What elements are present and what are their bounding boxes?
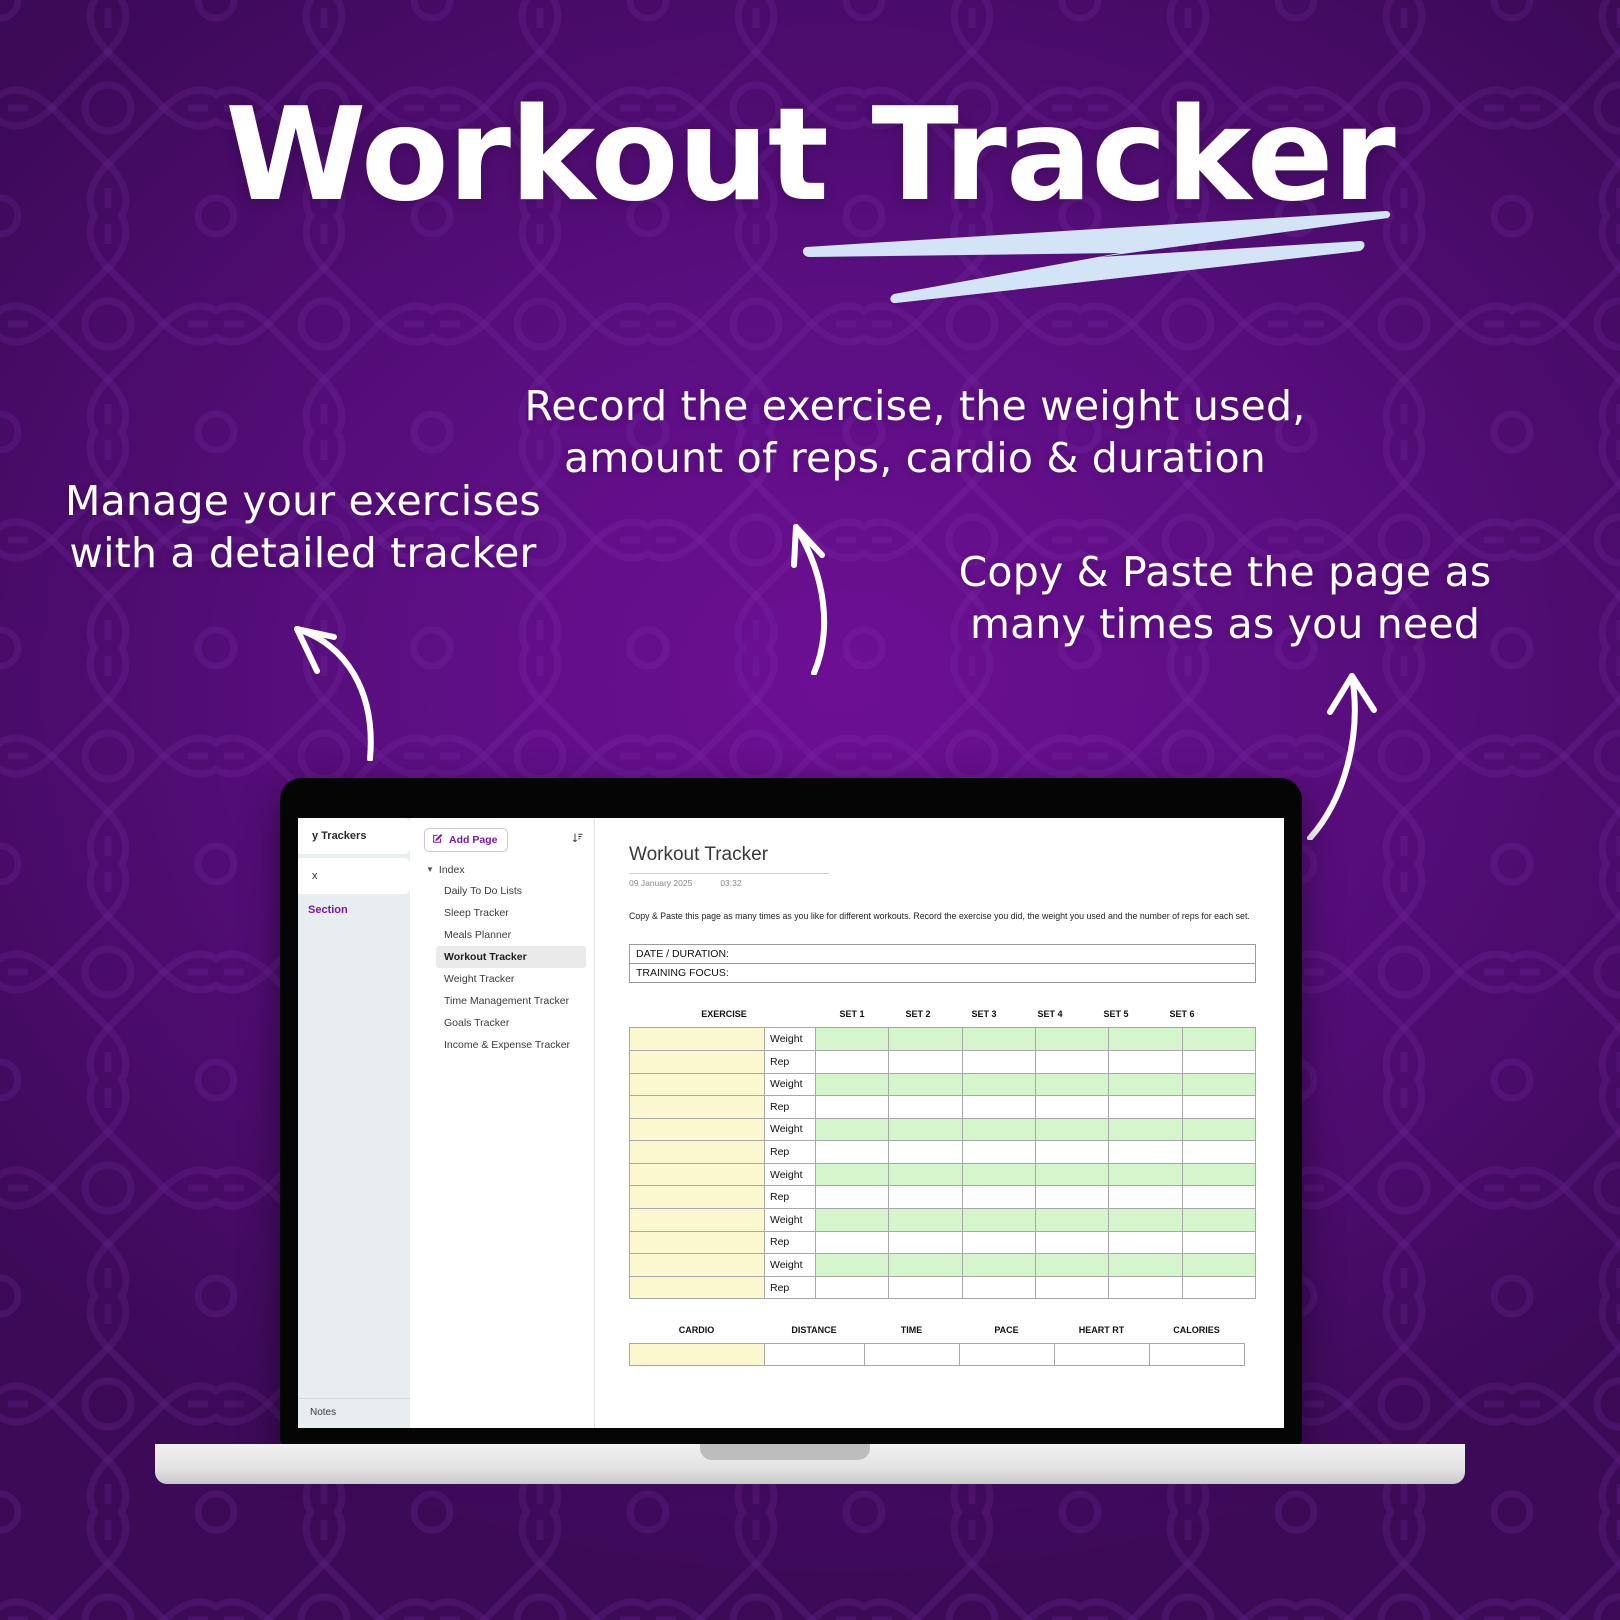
cell-set-1[interactable]: [816, 1118, 889, 1141]
cell-set-2[interactable]: [889, 1163, 962, 1186]
poster-headline: Workout Tracker: [0, 92, 1620, 220]
cell-set-2[interactable]: [889, 1141, 962, 1164]
cell-row-label: Rep: [765, 1186, 816, 1209]
laptop-mockup: y Trackers x Section Notes: [155, 778, 1465, 1518]
cell-exercise[interactable]: [630, 1050, 765, 1073]
cell-set-4[interactable]: [1035, 1276, 1108, 1299]
cell-set-6[interactable]: [1182, 1231, 1255, 1254]
table-row[interactable]: Rep: [630, 1050, 1256, 1073]
cell-set-1[interactable]: [816, 1141, 889, 1164]
table-row[interactable]: Weight: [630, 1073, 1256, 1096]
col-header-set-1: SET 1: [819, 1009, 885, 1019]
page-description: Copy & Paste this page as many times as …: [629, 910, 1256, 922]
table-row[interactable]: Weight: [630, 1118, 1256, 1141]
cell-set-1[interactable]: [816, 1163, 889, 1186]
cell-set-1[interactable]: [816, 1209, 889, 1232]
cell-set-6[interactable]: [1182, 1163, 1255, 1186]
cell-set-4[interactable]: [1035, 1118, 1108, 1141]
page-time: 03:32: [720, 878, 741, 888]
add-page-button[interactable]: Add Page: [424, 828, 508, 852]
section-sidebar: y Trackers x Section Notes: [298, 818, 410, 1428]
table-row[interactable]: Weight: [630, 1028, 1256, 1051]
col-header-set-2: SET 2: [885, 1009, 951, 1019]
cell-set-4[interactable]: [1035, 1050, 1108, 1073]
cell-set-3[interactable]: [962, 1028, 1035, 1051]
laptop-screen: y Trackers x Section Notes: [298, 818, 1284, 1428]
cell-set-6[interactable]: [1182, 1073, 1255, 1096]
page-title-rule: [629, 873, 829, 874]
field-training-focus[interactable]: TRAINING FOCUS:: [630, 963, 1255, 982]
cell-row-label: Weight: [765, 1073, 816, 1096]
cell-exercise[interactable]: [630, 1118, 765, 1141]
cell-set-4[interactable]: [1035, 1209, 1108, 1232]
cell-set-2[interactable]: [889, 1254, 962, 1277]
cell-set-6[interactable]: [1182, 1186, 1255, 1209]
cell-exercise[interactable]: [630, 1209, 765, 1232]
set-table[interactable]: WeightRepWeightRepWeightRepWeightRepWeig…: [629, 1027, 1256, 1299]
callout-right: Copy & Paste the page as many times as y…: [940, 546, 1510, 651]
cardio-col-header-time: TIME: [864, 1325, 959, 1335]
cell-set-6[interactable]: [1182, 1276, 1255, 1299]
table-row[interactable]: Weight: [630, 1254, 1256, 1277]
cardio-cell-distance[interactable]: [765, 1344, 865, 1366]
cell-set-3[interactable]: [962, 1141, 1035, 1164]
page-group-label: Index: [439, 864, 465, 876]
cell-set-3[interactable]: [962, 1096, 1035, 1119]
cell-set-6[interactable]: [1182, 1028, 1255, 1051]
cell-set-1[interactable]: [816, 1254, 889, 1277]
section-spacer: [298, 916, 410, 1398]
cell-set-3[interactable]: [962, 1186, 1035, 1209]
add-page-label: Add Page: [449, 834, 497, 846]
table-row[interactable]: Rep: [630, 1141, 1256, 1164]
page-timestamp: 09 January 2025 03:32: [629, 878, 1256, 888]
cell-set-3[interactable]: [962, 1073, 1035, 1096]
cell-set-4[interactable]: [1035, 1028, 1108, 1051]
header-info-box: DATE / DURATION: TRAINING FOCUS:: [629, 944, 1256, 983]
cell-set-1[interactable]: [816, 1231, 889, 1254]
section-tab-daily-trackers[interactable]: y Trackers: [298, 818, 410, 854]
cell-exercise[interactable]: [630, 1163, 765, 1186]
cell-set-6[interactable]: [1182, 1096, 1255, 1119]
cell-set-3[interactable]: [962, 1231, 1035, 1254]
cardio-col-header-pace: PACE: [959, 1325, 1054, 1335]
col-header-exercise: EXERCISE: [629, 1009, 819, 1019]
cell-set-3[interactable]: [962, 1276, 1035, 1299]
cell-set-6[interactable]: [1182, 1209, 1255, 1232]
laptop-trackpad-notch: [700, 1444, 870, 1460]
cardio-table[interactable]: [629, 1343, 1245, 1366]
cell-exercise[interactable]: [630, 1096, 765, 1119]
cell-set-6[interactable]: [1182, 1118, 1255, 1141]
cell-set-5[interactable]: [1109, 1050, 1182, 1073]
cell-set-3[interactable]: [962, 1118, 1035, 1141]
cell-set-2[interactable]: [889, 1073, 962, 1096]
headline-brush-underline: [800, 205, 1400, 305]
notes-label[interactable]: Notes: [298, 1398, 410, 1428]
document-canvas[interactable]: Workout Tracker 09 January 2025 03:32 Co…: [595, 818, 1284, 1428]
cell-row-label: Rep: [765, 1276, 816, 1299]
cell-exercise[interactable]: [630, 1276, 765, 1299]
page-item-weight-tracker[interactable]: Weight Tracker: [436, 968, 586, 990]
cell-row-label: Rep: [765, 1231, 816, 1254]
cell-row-label: Rep: [765, 1050, 816, 1073]
cell-exercise[interactable]: [630, 1073, 765, 1096]
cardio-cell-calories[interactable]: [1150, 1344, 1245, 1366]
cell-set-2[interactable]: [889, 1231, 962, 1254]
cell-set-5[interactable]: [1109, 1073, 1182, 1096]
table-row[interactable]: Rep: [630, 1186, 1256, 1209]
laptop-lid: y Trackers x Section Notes: [280, 778, 1302, 1444]
page-item-workout-tracker[interactable]: Workout Tracker: [436, 946, 586, 968]
cell-set-2[interactable]: [889, 1050, 962, 1073]
cell-row-label: Weight: [765, 1028, 816, 1051]
cell-exercise[interactable]: [630, 1186, 765, 1209]
set-table-header-row: EXERCISE SET 1 SET 2 SET 3 SET 4 SET 5 S…: [629, 1009, 1256, 1019]
page-item-sleep-tracker[interactable]: Sleep Tracker: [436, 902, 586, 924]
cell-set-5[interactable]: [1109, 1028, 1182, 1051]
add-section-button[interactable]: Section: [298, 898, 410, 916]
cell-set-2[interactable]: [889, 1186, 962, 1209]
page-item-daily-to-do-lists[interactable]: Daily To Do Lists: [436, 880, 586, 902]
page-panel-toolbar: Add Page: [410, 828, 594, 852]
cell-set-5[interactable]: [1109, 1209, 1182, 1232]
cell-set-5[interactable]: [1109, 1254, 1182, 1277]
col-header-set-3: SET 3: [951, 1009, 1017, 1019]
table-row[interactable]: Rep: [630, 1096, 1256, 1119]
cell-set-3[interactable]: [962, 1050, 1035, 1073]
callout-center: Record the exercise, the weight used, am…: [510, 380, 1320, 485]
cell-set-4[interactable]: [1035, 1163, 1108, 1186]
cell-set-2[interactable]: [889, 1028, 962, 1051]
cell-set-1[interactable]: [816, 1050, 889, 1073]
page-date: 09 January 2025: [629, 878, 692, 888]
cardio-cell-cardio[interactable]: [630, 1344, 765, 1366]
page-list-panel: Add Page ▼ Index Daily To Do: [410, 818, 595, 1428]
table-row[interactable]: Weight: [630, 1209, 1256, 1232]
cell-set-1[interactable]: [816, 1073, 889, 1096]
cardio-cell-time[interactable]: [865, 1344, 960, 1366]
cell-set-5[interactable]: [1109, 1118, 1182, 1141]
page-item-meals-planner[interactable]: Meals Planner: [436, 924, 586, 946]
cell-set-6[interactable]: [1182, 1141, 1255, 1164]
cardio-cell-pace[interactable]: [960, 1344, 1055, 1366]
cell-set-5[interactable]: [1109, 1276, 1182, 1299]
cell-set-6[interactable]: [1182, 1050, 1255, 1073]
cell-set-1[interactable]: [816, 1096, 889, 1119]
col-header-set-4: SET 4: [1017, 1009, 1083, 1019]
cell-row-label: Weight: [765, 1163, 816, 1186]
cell-set-4[interactable]: [1035, 1186, 1108, 1209]
cell-row-label: Rep: [765, 1141, 816, 1164]
cardio-col-header-heart-rt: HEART RT: [1054, 1325, 1149, 1335]
cell-exercise[interactable]: [630, 1141, 765, 1164]
cell-set-5[interactable]: [1109, 1141, 1182, 1164]
field-date-duration[interactable]: DATE / DURATION:: [630, 945, 1255, 963]
cell-set-5[interactable]: [1109, 1096, 1182, 1119]
cell-row-label: Weight: [765, 1118, 816, 1141]
cell-set-4[interactable]: [1035, 1096, 1108, 1119]
cell-row-label: Weight: [765, 1254, 816, 1277]
chevron-down-icon: ▼: [426, 866, 434, 874]
cardio-col-header-calories: CALORIES: [1149, 1325, 1244, 1335]
page-item-time-management-tracker[interactable]: Time Management Tracker: [436, 990, 586, 1012]
cell-set-1[interactable]: [816, 1028, 889, 1051]
cell-row-label: Weight: [765, 1209, 816, 1232]
col-header-set-6: SET 6: [1149, 1009, 1215, 1019]
cardio-col-header-cardio: CARDIO: [629, 1325, 764, 1335]
cell-set-5[interactable]: [1109, 1163, 1182, 1186]
cell-set-1[interactable]: [816, 1276, 889, 1299]
table-row[interactable]: Rep: [630, 1231, 1256, 1254]
cell-set-1[interactable]: [816, 1186, 889, 1209]
cell-set-2[interactable]: [889, 1276, 962, 1299]
compose-icon: [432, 833, 443, 847]
page-title[interactable]: Workout Tracker: [629, 844, 829, 871]
table-row[interactable]: Weight: [630, 1163, 1256, 1186]
cell-exercise[interactable]: [630, 1231, 765, 1254]
callout-left: Manage your exercises with a detailed tr…: [48, 475, 558, 580]
col-header-set-5: SET 5: [1083, 1009, 1149, 1019]
cardio-cell-heart-rt[interactable]: [1055, 1344, 1150, 1366]
cell-set-4[interactable]: [1035, 1231, 1108, 1254]
cell-exercise[interactable]: [630, 1254, 765, 1277]
cell-set-3[interactable]: [962, 1163, 1035, 1186]
onenote-app: y Trackers x Section Notes: [298, 818, 1284, 1428]
cell-set-4[interactable]: [1035, 1141, 1108, 1164]
cell-set-2[interactable]: [889, 1118, 962, 1141]
cell-row-label: Rep: [765, 1096, 816, 1119]
section-tab-index[interactable]: x: [298, 858, 410, 894]
cell-set-4[interactable]: [1035, 1073, 1108, 1096]
cell-set-2[interactable]: [889, 1209, 962, 1232]
arrow-up-left-icon: [272, 596, 392, 761]
cell-set-2[interactable]: [889, 1096, 962, 1119]
cell-set-6[interactable]: [1182, 1254, 1255, 1277]
arrow-up-center-icon: [760, 515, 850, 675]
page-item-income-expense-tracker[interactable]: Income & Expense Tracker: [436, 1034, 586, 1056]
cardio-table-header-row: CARDIODISTANCETIMEPACEHEART RTCALORIES: [629, 1325, 1256, 1335]
sort-descending-icon[interactable]: [572, 831, 584, 849]
cell-set-3[interactable]: [962, 1254, 1035, 1277]
cell-set-5[interactable]: [1109, 1231, 1182, 1254]
page-item-goals-tracker[interactable]: Goals Tracker: [436, 1012, 586, 1034]
table-row[interactable]: Rep: [630, 1276, 1256, 1299]
cell-set-4[interactable]: [1035, 1254, 1108, 1277]
cardio-col-header-distance: DISTANCE: [764, 1325, 864, 1335]
cell-set-5[interactable]: [1109, 1186, 1182, 1209]
cell-exercise[interactable]: [630, 1028, 765, 1051]
cell-set-3[interactable]: [962, 1209, 1035, 1232]
page-group-index[interactable]: ▼ Index: [410, 852, 594, 880]
